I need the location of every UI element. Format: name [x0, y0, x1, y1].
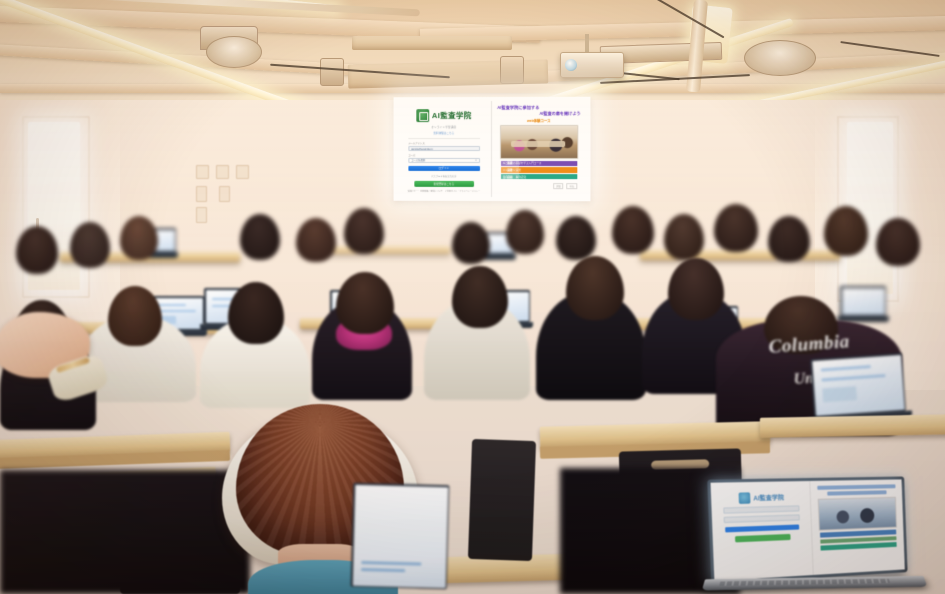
course-row[interactable]: 実践 ハンズオン演習: [501, 167, 577, 173]
divider: [408, 138, 479, 139]
student-head: [452, 222, 490, 264]
laptop-keyboard-base: [702, 576, 928, 591]
student-laptop: [810, 353, 906, 417]
promo-photo: [500, 124, 578, 158]
projection-screen: AI監査学院 オンライン学習講座 無料体験はこちら メールアドレス sample…: [394, 97, 591, 202]
chevron-down-icon: ▾: [475, 158, 476, 163]
ceiling-projector: [560, 52, 624, 78]
projector-lens-icon: [565, 59, 577, 71]
student-head: [16, 226, 58, 274]
laptop-promo-photo: [818, 497, 896, 531]
student-raised-hand: [0, 312, 124, 432]
student-head: [70, 222, 110, 268]
course-select-value: コースを選択: [411, 158, 425, 163]
promo-course-rows: 基礎 AIと監査の基礎を学ぶ入門コース 実践 ハンズオン演習 応用 業務適用・事…: [501, 161, 577, 181]
student-head: [120, 216, 158, 260]
projected-promo-panel: AI監査学院に参加する AI監査の扉を開けよう web体験コース 基礎 AIと監…: [492, 101, 587, 197]
brand-logo-text: AI監査学院: [432, 112, 472, 120]
promo-footer-chips: 詳細 申込: [501, 183, 577, 189]
ceiling: [0, 0, 945, 100]
laptop-login-button[interactable]: [725, 524, 799, 532]
apply-chip[interactable]: 申込: [567, 183, 577, 189]
laptop-register-button[interactable]: [735, 534, 790, 542]
course-row-text: 業務適用・事例研究: [501, 175, 526, 179]
footer-note: 受講バナー・特典情報／運営について ご利用ガイド・プライバシーポリシー: [406, 191, 482, 194]
foreground-laptop[interactable]: AI監査学院: [712, 478, 928, 594]
course-row-text: ハンズオン演習: [501, 168, 521, 172]
promo-headline-line2: AI監査の扉を開けよう: [497, 110, 580, 116]
student-head: [506, 210, 544, 254]
student-head: [344, 208, 384, 254]
brand-logo: AI監査学院: [416, 109, 472, 122]
laptop-course-row[interactable]: [821, 542, 896, 550]
laptop-brand-logo: AI監査学院: [739, 492, 785, 504]
desk: [760, 414, 945, 437]
course-row[interactable]: 応用 業務適用・事例研究: [501, 174, 577, 180]
laptop-lid: AI監査学院: [707, 476, 907, 584]
laptop-promo-subheadline: [828, 490, 887, 495]
laptop-course-select[interactable]: [724, 514, 800, 523]
student-head: [296, 218, 336, 262]
trial-link[interactable]: 無料体験はこちら: [434, 131, 455, 135]
student-laptop: [351, 483, 450, 589]
laptop-promo-panel: [810, 479, 905, 575]
foreground-shadow: [0, 470, 250, 594]
student-head: [714, 204, 758, 252]
projected-login-panel: AI監査学院 オンライン学習講座 無料体験はこちら メールアドレス sample…: [398, 101, 492, 197]
laptop-email-field[interactable]: [723, 505, 799, 513]
register-button[interactable]: 新規登録はこちら: [414, 181, 474, 187]
student-head: [556, 216, 596, 260]
student-head: [876, 218, 920, 266]
brand-tagline: オンライン学習講座: [431, 125, 456, 129]
laptop-keyboard[interactable]: [719, 579, 890, 586]
login-button[interactable]: ログイン: [408, 166, 479, 171]
course-row[interactable]: 基礎 AIと監査の基礎を学ぶ入門コース: [501, 161, 577, 167]
ceiling-speaker: [320, 58, 344, 86]
student-head: [612, 206, 654, 254]
email-label: メールアドレス: [408, 141, 425, 145]
air-duct: [352, 36, 512, 50]
ceiling-vent: [206, 36, 262, 68]
detail-chip[interactable]: 詳細: [553, 183, 563, 189]
laptop-screen[interactable]: AI監査学院: [711, 479, 905, 581]
course-select[interactable]: コースを選択 ▾: [408, 158, 479, 163]
laptop-login-panel: AI監査学院: [711, 481, 814, 581]
student-head: [336, 272, 394, 334]
classroom-photo-scene: AI監査学院 オンライン学習講座 無料体験はこちら メールアドレス sample…: [0, 0, 945, 594]
academy-logo-icon: [739, 492, 751, 504]
student-head: [824, 206, 868, 256]
academy-logo-icon: [416, 109, 429, 122]
student-head: [768, 216, 810, 262]
email-field[interactable]: sample@example.jp: [408, 146, 479, 151]
forgot-password-link[interactable]: パスワードをお忘れの方: [431, 174, 456, 178]
student-head: [228, 282, 284, 344]
ceiling-speaker: [500, 56, 524, 84]
student-head: [240, 214, 280, 260]
course-label: コース: [408, 153, 415, 157]
ceiling-vent: [744, 40, 816, 76]
course-row-text: AIと監査の基礎を学ぶ入門コース: [501, 161, 542, 165]
student-head: [452, 266, 508, 328]
student-head: [664, 214, 704, 260]
promo-subheadline: web体験コース: [527, 117, 550, 122]
laptop-promo-headline: [817, 484, 896, 490]
laptop-brand-text: AI監査学院: [753, 493, 784, 503]
projector-mount: [585, 34, 589, 54]
projected-webpage: AI監査学院 オンライン学習講座 無料体験はこちら メールアドレス sample…: [398, 101, 587, 197]
chair[interactable]: [468, 439, 536, 561]
